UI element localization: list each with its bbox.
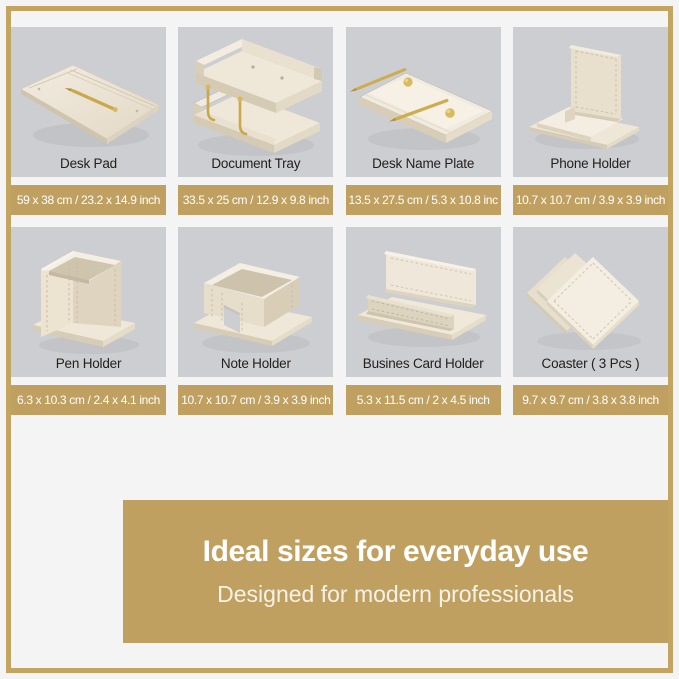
product-size-badge: 13.5 x 27.5 cm / 5.3 x 10.8 inc	[346, 185, 501, 215]
cell-gap	[513, 177, 668, 185]
cell-gap	[513, 377, 668, 385]
promo-banner: Ideal sizes for everyday use Designed fo…	[123, 500, 668, 643]
product-row-1: Desk Pad 59 x 38 cm / 23.2 x 14.9 inch	[11, 27, 668, 215]
coaster-photo: Coaster ( 3 Pcs )	[513, 227, 668, 377]
product-size-badge: 10.7 x 10.7 cm / 3.9 x 3.9 inch	[178, 385, 333, 415]
product-cell-note-holder[interactable]: Note Holder 10.7 x 10.7 cm / 3.9 x 3.9 i…	[178, 227, 333, 415]
product-size-badge: 59 x 38 cm / 23.2 x 14.9 inch	[11, 185, 166, 215]
poster-inner-area: Desk Pad 59 x 38 cm / 23.2 x 14.9 inch	[11, 11, 668, 668]
product-name-label: Desk Name Plate	[346, 156, 501, 171]
cell-gap	[346, 377, 501, 385]
product-size-infographic: Desk Pad 59 x 38 cm / 23.2 x 14.9 inch	[0, 0, 679, 679]
product-cell-coaster[interactable]: Coaster ( 3 Pcs ) 9.7 x 9.7 cm / 3.8 x 3…	[513, 227, 668, 415]
product-grid: Desk Pad 59 x 38 cm / 23.2 x 14.9 inch	[11, 27, 668, 427]
product-cell-phone-holder[interactable]: Phone Holder 10.7 x 10.7 cm / 3.9 x 3.9 …	[513, 27, 668, 215]
phone-holder-photo: Phone Holder	[513, 27, 668, 177]
product-name-label: Busines Card Holder	[346, 356, 501, 371]
desk-pad-photo: Desk Pad	[11, 27, 166, 177]
desk-name-plate-photo: Desk Name Plate	[346, 27, 501, 177]
product-name-label: Pen Holder	[11, 356, 166, 371]
pen-holder-photo: Pen Holder	[11, 227, 166, 377]
product-cell-desk-name-plate[interactable]: Desk Name Plate 13.5 x 27.5 cm / 5.3 x 1…	[346, 27, 501, 215]
note-holder-photo: Note Holder	[178, 227, 333, 377]
product-size-badge: 10.7 x 10.7 cm / 3.9 x 3.9 inch	[513, 185, 668, 215]
cell-gap	[346, 177, 501, 185]
product-name-label: Document Tray	[178, 156, 333, 171]
product-name-label: Coaster ( 3 Pcs )	[513, 356, 668, 371]
product-size-badge: 5.3 x 11.5 cm / 2 x 4.5 inch	[346, 385, 501, 415]
cell-gap	[11, 377, 166, 385]
promo-banner-title: Ideal sizes for everyday use	[203, 535, 589, 569]
product-cell-business-card-holder[interactable]: Busines Card Holder 5.3 x 11.5 cm / 2 x …	[346, 227, 501, 415]
product-row-2: Pen Holder 6.3 x 10.3 cm / 2.4 x 4.1 inc…	[11, 227, 668, 415]
product-size-badge: 33.5 x 25 cm / 12.9 x 9.8 inch	[178, 185, 333, 215]
product-name-label: Note Holder	[178, 356, 333, 371]
product-size-badge: 9.7 x 9.7 cm / 3.8 x 3.8 inch	[513, 385, 668, 415]
product-size-badge: 6.3 x 10.3 cm / 2.4 x 4.1 inch	[11, 385, 166, 415]
document-tray-photo: Document Tray	[178, 27, 333, 177]
product-name-label: Desk Pad	[11, 156, 166, 171]
product-cell-document-tray[interactable]: Document Tray 33.5 x 25 cm / 12.9 x 9.8 …	[178, 27, 333, 215]
business-card-holder-photo: Busines Card Holder	[346, 227, 501, 377]
product-name-label: Phone Holder	[513, 156, 668, 171]
promo-banner-subtitle: Designed for modern professionals	[217, 581, 574, 608]
cell-gap	[11, 177, 166, 185]
product-cell-desk-pad[interactable]: Desk Pad 59 x 38 cm / 23.2 x 14.9 inch	[11, 27, 166, 215]
product-cell-pen-holder[interactable]: Pen Holder 6.3 x 10.3 cm / 2.4 x 4.1 inc…	[11, 227, 166, 415]
cell-gap	[178, 177, 333, 185]
cell-gap	[178, 377, 333, 385]
